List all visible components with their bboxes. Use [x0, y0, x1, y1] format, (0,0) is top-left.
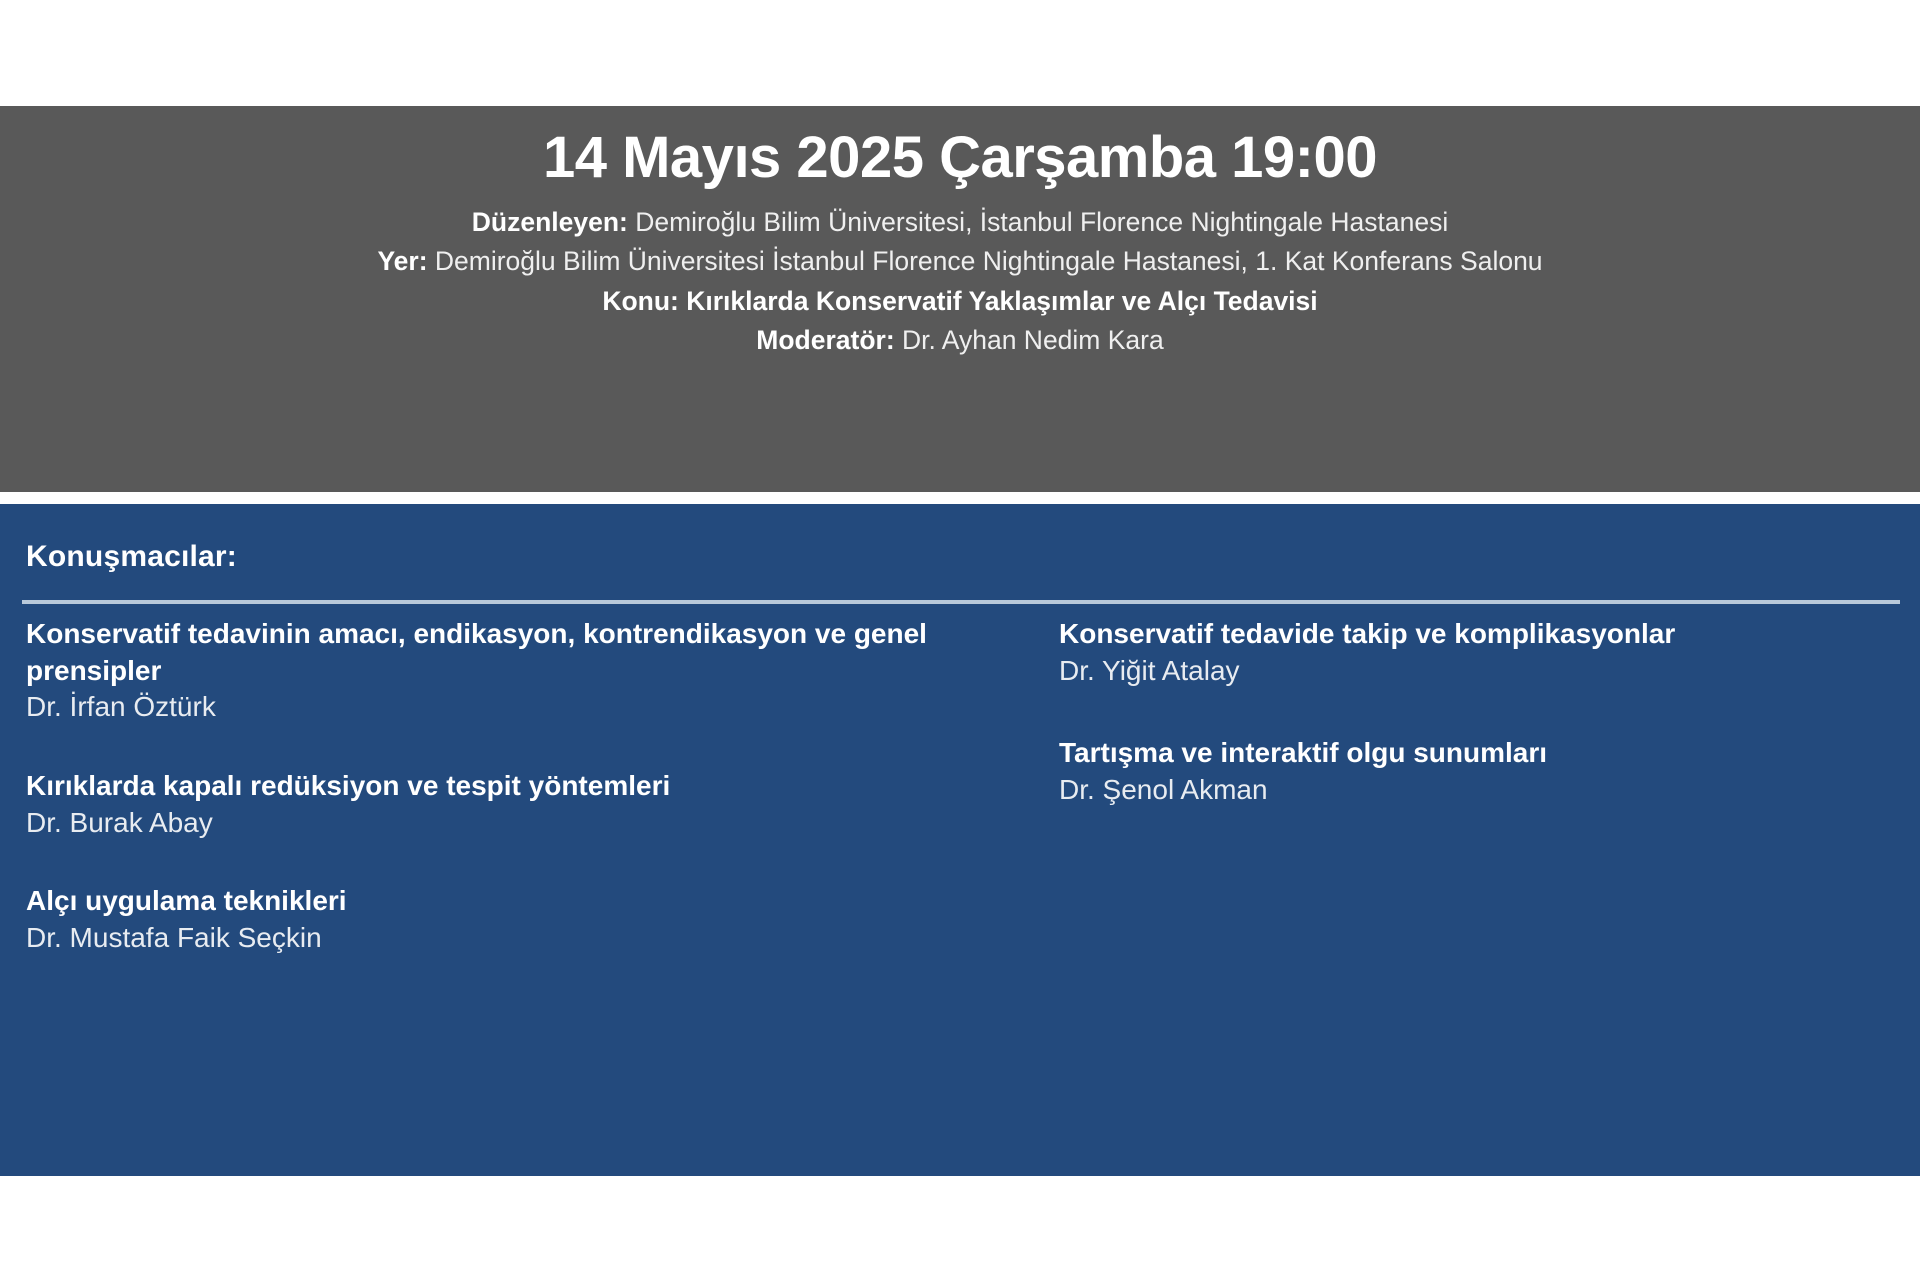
header-band: 14 Mayıs 2025 Çarşamba 19:00 Düzenleyen:…: [0, 106, 1920, 492]
talk-speaker: Dr. Yiğit Atalay: [1059, 653, 1900, 690]
talk-speaker: Dr. Burak Abay: [26, 805, 1025, 842]
talk-title: Kırıklarda kapalı redüksiyon ve tespit y…: [26, 768, 1025, 805]
moderator-value: Dr. Ayhan Nedim Kara: [895, 325, 1164, 355]
organizer-value: Demiroğlu Bilim Üniversitesi, İstanbul F…: [628, 207, 1448, 237]
speakers-column-right: Konservatif tedavide takip ve komplikasy…: [1045, 616, 1920, 957]
speakers-columns: Konservatif tedavinin amacı, endikasyon,…: [0, 616, 1920, 957]
talk-item: Konservatif tedavinin amacı, endikasyon,…: [26, 616, 1025, 726]
topic-line: Konu: Kırıklarda Konservatif Yaklaşımlar…: [0, 282, 1920, 321]
speakers-column-left: Konservatif tedavinin amacı, endikasyon,…: [0, 616, 1045, 957]
talk-title: Alçı uygulama teknikleri: [26, 883, 1025, 920]
event-poster: 14 Mayıs 2025 Çarşamba 19:00 Düzenleyen:…: [0, 0, 1920, 1280]
talk-title: Konservatif tedavide takip ve komplikasy…: [1059, 616, 1900, 653]
speakers-heading: Konuşmacılar:: [26, 540, 237, 574]
organizer-label: Düzenleyen:: [472, 207, 628, 237]
band-separator: [0, 492, 1920, 504]
talk-item: Konservatif tedavide takip ve komplikasy…: [1059, 616, 1900, 689]
heading-divider: [22, 600, 1900, 604]
moderator-label: Moderatör:: [756, 325, 894, 355]
talk-speaker: Dr. Şenol Akman: [1059, 772, 1900, 809]
talk-title: Tartışma ve interaktif olgu sunumları: [1059, 735, 1900, 772]
talk-speaker: Dr. Mustafa Faik Seçkin: [26, 920, 1025, 957]
speakers-panel: Konuşmacılar: Konservatif tedavinin amac…: [0, 504, 1920, 1176]
venue-label: Yer:: [377, 246, 427, 276]
talk-speaker: Dr. İrfan Öztürk: [26, 689, 1025, 726]
organizer-line: Düzenleyen: Demiroğlu Bilim Üniversitesi…: [0, 203, 1920, 242]
venue-line: Yer: Demiroğlu Bilim Üniversitesi İstanb…: [0, 242, 1920, 281]
talk-item: Tartışma ve interaktif olgu sunumları Dr…: [1059, 735, 1900, 808]
talk-title: Konservatif tedavinin amacı, endikasyon,…: [26, 616, 1025, 689]
talk-item: Alçı uygulama teknikleri Dr. Mustafa Fai…: [26, 883, 1025, 956]
moderator-line: Moderatör: Dr. Ayhan Nedim Kara: [0, 321, 1920, 360]
venue-value: Demiroğlu Bilim Üniversitesi İstanbul Fl…: [428, 246, 1543, 276]
talk-item: Kırıklarda kapalı redüksiyon ve tespit y…: [26, 768, 1025, 841]
event-datetime: 14 Mayıs 2025 Çarşamba 19:00: [0, 128, 1920, 189]
